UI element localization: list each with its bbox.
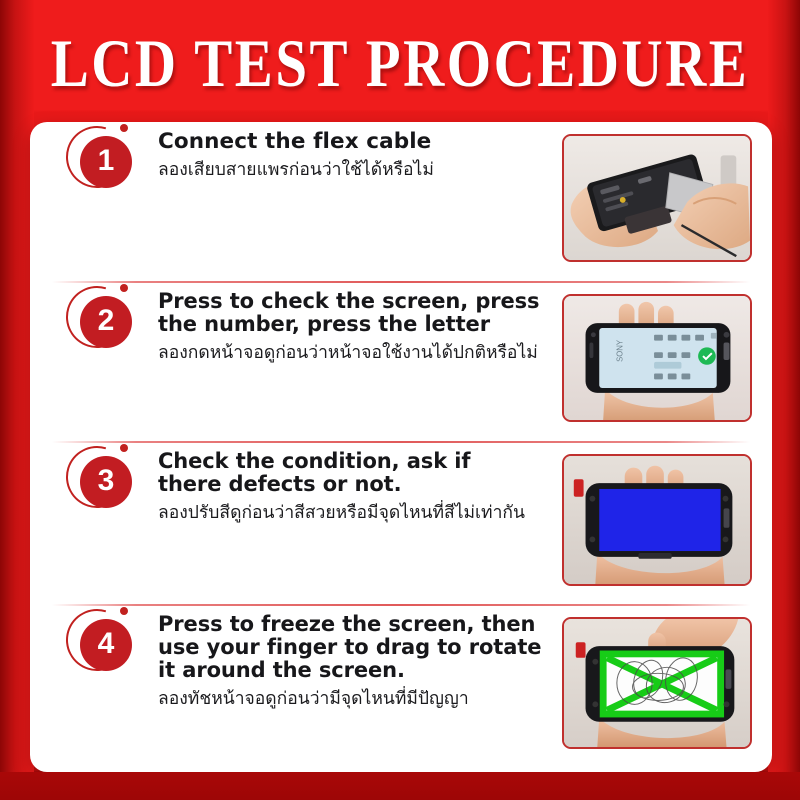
step-row-3: 3 Check the condition, ask if there defe… — [30, 442, 772, 605]
step-photo-4 — [562, 617, 752, 749]
blue-screen-photo-icon — [564, 456, 750, 584]
step-text-2: Press to check the screen, press the num… — [144, 282, 562, 365]
step-title-2: Press to check the screen, press the num… — [158, 290, 562, 336]
step-badge-4: 4 — [66, 605, 144, 683]
step-photo-3 — [562, 454, 752, 586]
step-row-2: 2 Press to check the screen, press the n… — [30, 282, 772, 442]
step-number-2: 2 — [80, 296, 132, 348]
step-photo-2: SONY — [562, 294, 752, 422]
touch-test-photo-icon — [564, 619, 750, 747]
step-subtitle-2: ลองกดหน้าจอดูก่อนว่าหน้าจอใช้งานได้ปกติห… — [158, 341, 562, 365]
step-text-3: Check the condition, ask if there defect… — [144, 442, 562, 525]
step-badge-2: 2 — [66, 282, 144, 360]
step-subtitle-1: ลองเสียบสายแพรก่อนว่าใช้ได้หรือไม่ — [158, 158, 562, 182]
step-row-4: 4 Press to freeze the screen, then use y… — [30, 605, 772, 772]
step-number-4: 4 — [80, 619, 132, 671]
badge-dot-icon — [120, 444, 128, 452]
flex-cable-photo-icon — [564, 136, 750, 260]
step-number-3: 3 — [80, 456, 132, 508]
page-title: LCD TEST PROCEDURE — [0, 28, 800, 101]
step-row-1: 1 Connect the flex cable ลองเสียบสายแพรก… — [30, 122, 772, 282]
step-subtitle-4: ลองทัชหน้าจอดูก่อนว่ามีจุดไหนที่มีปัญญา — [158, 687, 562, 711]
dialer-screen-photo-icon: SONY — [564, 296, 750, 420]
step-number-1: 1 — [80, 136, 132, 188]
steps-list: 1 Connect the flex cable ลองเสียบสายแพรก… — [30, 122, 772, 772]
step-text-1: Connect the flex cable ลองเสียบสายแพรก่อ… — [144, 122, 562, 182]
step-title-4: Press to freeze the screen, then use you… — [158, 613, 562, 682]
badge-dot-icon — [120, 607, 128, 615]
step-badge-3: 3 — [66, 442, 144, 520]
procedure-card: 1 Connect the flex cable ลองเสียบสายแพรก… — [30, 122, 772, 772]
step-title-1: Connect the flex cable — [158, 130, 562, 153]
step-subtitle-3: ลองปรับสีดูก่อนว่าสีสวยหรือมีจุดไหนที่สี… — [158, 501, 562, 525]
step-badge-1: 1 — [66, 122, 144, 200]
footer-strip — [0, 772, 800, 800]
step-photo-1 — [562, 134, 752, 262]
step-text-4: Press to freeze the screen, then use you… — [144, 605, 562, 711]
badge-dot-icon — [120, 124, 128, 132]
badge-dot-icon — [120, 284, 128, 292]
step-title-3: Check the condition, ask if there defect… — [158, 450, 562, 496]
svg-text:SONY: SONY — [616, 339, 625, 362]
